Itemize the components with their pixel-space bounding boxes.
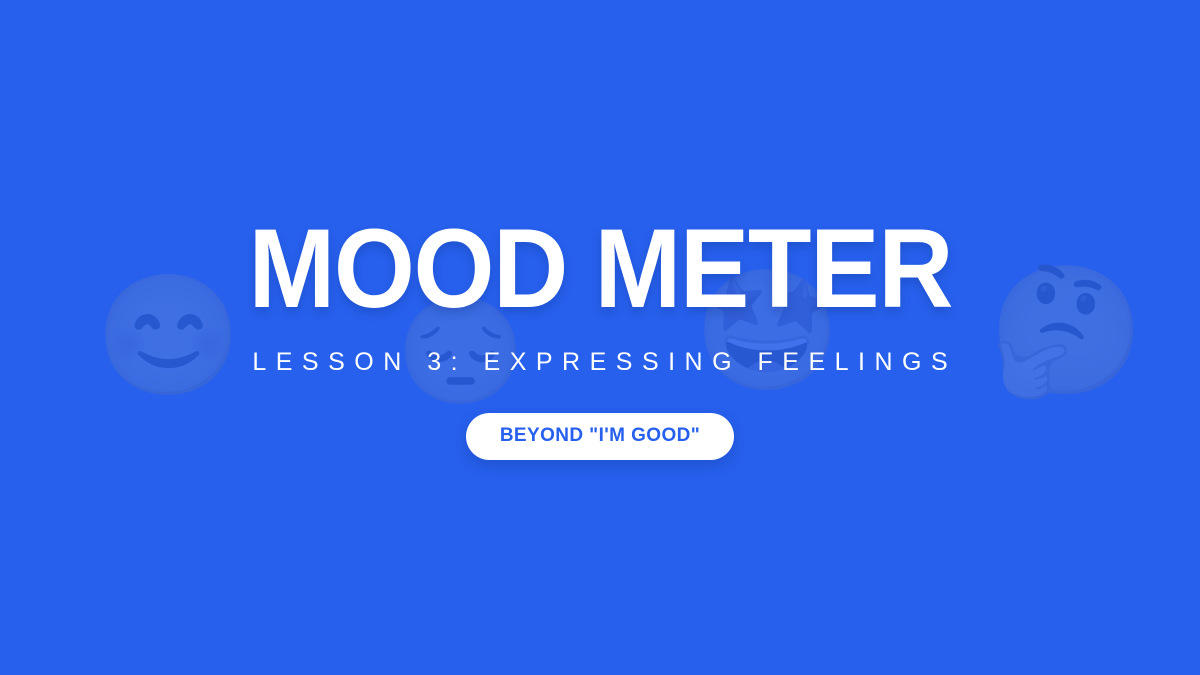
lesson-subtitle: LESSON 3: EXPRESSING FEELINGS xyxy=(243,349,957,377)
page-title: MOOD METER xyxy=(248,215,952,323)
tagline-badge[interactable]: BEYOND "I'M GOOD" xyxy=(466,413,734,460)
slide-content: MOOD METER LESSON 3: EXPRESSING FEELINGS… xyxy=(0,0,1200,675)
slide-canvas: 😊 😔 🤩 🤔 MOOD METER LESSON 3: EXPRESSING … xyxy=(0,0,1200,675)
